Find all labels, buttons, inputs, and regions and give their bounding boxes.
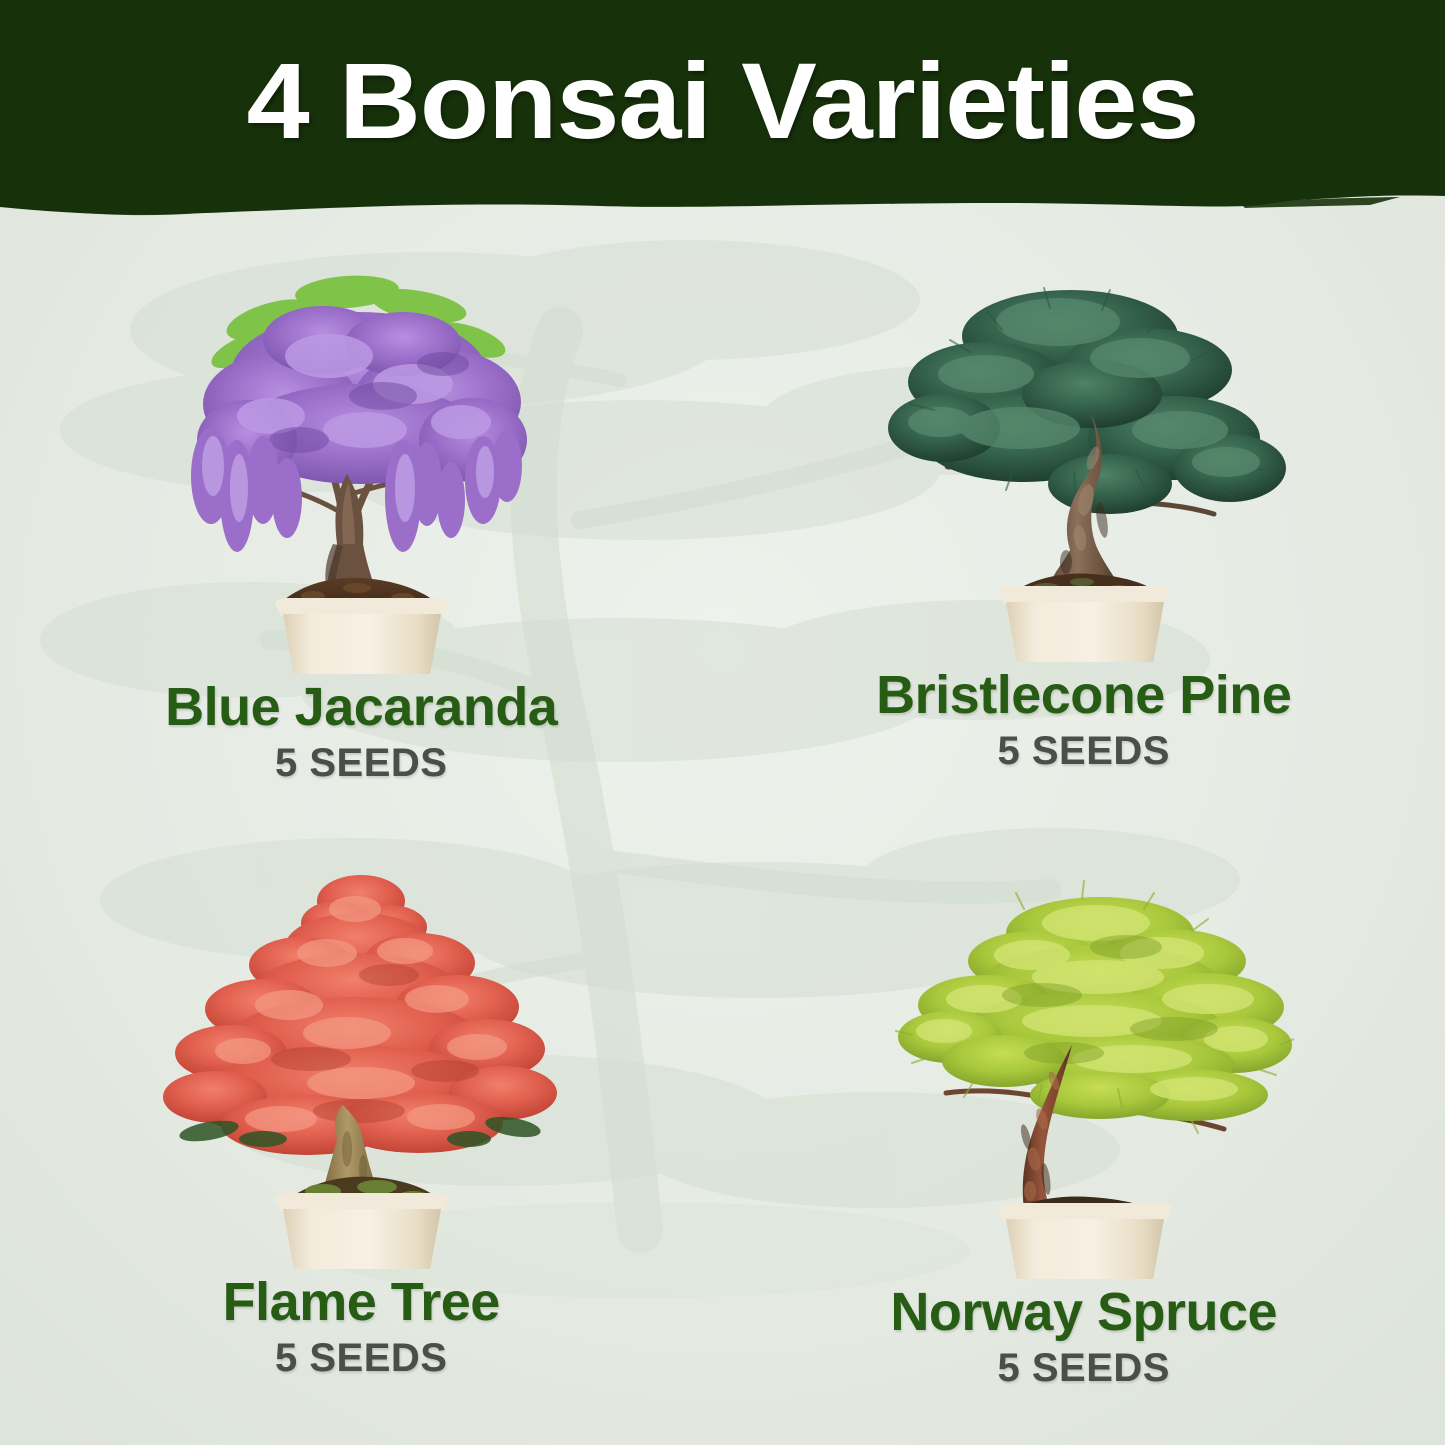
variety-card-norway-spruce[interactable]: Norway Spruce 5 SEEDS <box>723 839 1445 1445</box>
page-title: 4 Bonsai Varieties <box>0 0 1445 200</box>
variety-card-bristlecone-pine[interactable]: Bristlecone Pine 5 SEEDS <box>723 232 1445 839</box>
seed-count-bristlecone-pine: 5 SEEDS <box>998 729 1170 774</box>
header-banner: 4 Bonsai Varieties <box>0 0 1445 232</box>
norway-spruce-image <box>874 849 1294 1279</box>
variety-name-blue-jacaranda: Blue Jacaranda <box>165 680 557 735</box>
varieties-grid: Blue Jacaranda 5 SEEDS <box>0 232 1445 1445</box>
flame-tree-image <box>151 839 571 1269</box>
seed-count-norway-spruce: 5 SEEDS <box>998 1346 1170 1391</box>
variety-name-flame-tree: Flame Tree <box>223 1275 500 1330</box>
seed-count-blue-jacaranda: 5 SEEDS <box>275 741 447 786</box>
variety-card-blue-jacaranda[interactable]: Blue Jacaranda 5 SEEDS <box>0 232 723 839</box>
variety-name-norway-spruce: Norway Spruce <box>890 1285 1277 1340</box>
seed-count-flame-tree: 5 SEEDS <box>275 1336 447 1381</box>
variety-name-bristlecone-pine: Bristlecone Pine <box>876 668 1291 723</box>
variety-card-flame-tree[interactable]: Flame Tree 5 SEEDS <box>0 839 723 1445</box>
bristlecone-pine-image <box>874 232 1294 662</box>
blue-jacaranda-image <box>151 244 571 674</box>
